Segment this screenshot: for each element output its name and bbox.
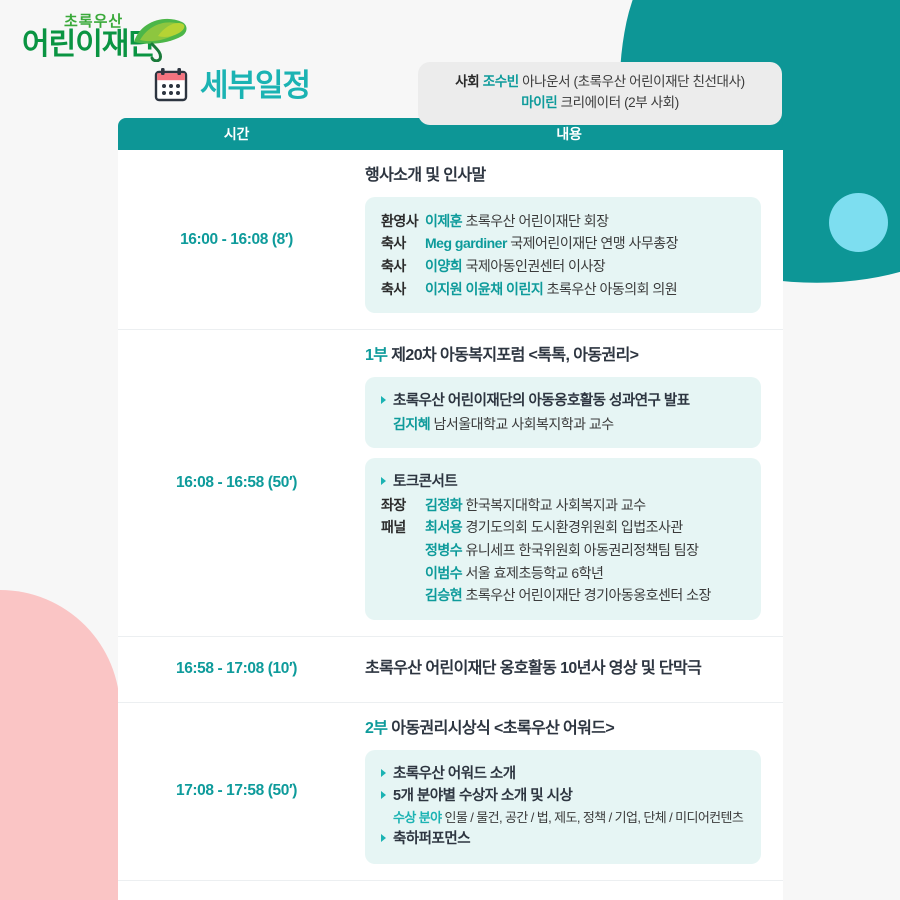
panel-line: 축사Meg gardiner 국제어린이재단 연맹 사무총장 <box>381 232 745 255</box>
person-name: 김정화 <box>425 497 462 513</box>
mc-desc-2: 크리에이터 (2부 사회) <box>561 95 679 110</box>
table-row: 16:08 - 16:58 (50′) 1부 제20차 아동복지포럼 <톡톡, … <box>118 329 783 635</box>
bullet-item: 초록우산 어워드 소개 <box>381 763 745 785</box>
role-label: 축사 <box>381 255 425 278</box>
person-name: 김지혜 <box>393 416 430 432</box>
person-name: 김승현 <box>425 587 462 603</box>
triangle-bullet-icon <box>381 477 386 485</box>
row-time: 17:08 - 17:58 (50′) <box>118 703 355 880</box>
panel-line: 이범수 서울 효제초등학교 6학년 <box>381 562 745 585</box>
row-title-text: 아동권리시상식 <초록우산 어워드> <box>391 720 614 737</box>
person-desc: 국제어린이재단 연맹 사무총장 <box>510 235 678 251</box>
award-categories-text: 인물 / 물건, 공간 / 법, 제도, 정책 / 기업, 단체 / 미디어컨텐… <box>444 810 743 825</box>
mc-name-2: 마이린 <box>521 95 557 110</box>
blue-circle-decoration <box>829 193 888 252</box>
row-content: 1부 제20차 아동복지포럼 <톡톡, 아동권리> 초록우산 어린이재단의 아동… <box>355 330 783 635</box>
award-categories-label: 수상 분야 <box>393 810 441 825</box>
detail-panel: 초록우산 어린이재단의 아동옹호활동 성과연구 발표 김지혜 남서울대학교 사회… <box>365 377 761 448</box>
part-tag: 1부 <box>365 347 387 364</box>
person-name: 정병수 <box>425 542 462 558</box>
panel-subline: 김지혜 남서울대학교 사회복지학과 교수 <box>381 413 745 435</box>
part-tag: 2부 <box>365 720 387 737</box>
bullet-text: 초록우산 어워드 소개 <box>393 763 516 785</box>
table-row: 16:00 - 16:08 (8′) 행사소개 및 인사말 환영사이제훈 초록우… <box>118 150 783 329</box>
page-title-row: 세부일정 <box>152 66 310 104</box>
person-desc: 남서울대학교 사회복지학과 교수 <box>434 416 614 432</box>
childfund-logo: 초록우산 어린이재단 <box>22 8 192 70</box>
person-desc: 초록우산 어린이재단 회장 <box>466 213 609 229</box>
role-label: 축사 <box>381 232 425 255</box>
row-title: 초록우산 어린이재단 옹호활동 10년사 영상 및 단막극 <box>365 659 761 680</box>
mc-label: 사회 <box>455 74 479 89</box>
award-categories: 수상 분야 인물 / 물건, 공간 / 법, 제도, 정책 / 기업, 단체 /… <box>381 808 745 829</box>
row-time: 16:08 - 16:58 (50′) <box>118 330 355 635</box>
row-time: 16:58 - 17:08 (10′) <box>118 637 355 702</box>
person-desc: 초록우산 아동의회 의원 <box>547 281 678 297</box>
mc-info-box: 사회 조수빈 아나운서 (초록우산 어린이재단 친선대사) 마이린 크리에이터 … <box>418 62 782 125</box>
person-desc: 경기도의회 도시환경위원회 입법조사관 <box>466 519 683 535</box>
bullet-item: 축하퍼포먼스 <box>381 828 745 850</box>
column-header-content: 내용 <box>355 124 783 144</box>
row-time: 17:58 - 18:00 (2′) <box>118 881 355 900</box>
person-name: 최서용 <box>425 519 462 535</box>
panel-line: 정병수 유니세프 한국위원회 아동권리정책팀 팀장 <box>381 539 745 562</box>
panel-line: 축사이양희 국제아동인권센터 이사장 <box>381 255 745 278</box>
column-header-time: 시간 <box>118 124 355 144</box>
detail-panel: 초록우산 어워드 소개 5개 분야별 수상자 소개 및 시상 수상 분야 인물 … <box>365 750 761 864</box>
row-content: 마무리 <box>355 881 783 900</box>
triangle-bullet-icon <box>381 769 386 777</box>
row-content: 행사소개 및 인사말 환영사이제훈 초록우산 어린이재단 회장 축사Meg ga… <box>355 150 783 329</box>
bullet-item: 초록우산 어린이재단의 아동옹호활동 성과연구 발표 <box>381 390 745 412</box>
person-desc: 국제아동인권센터 이사장 <box>466 258 606 274</box>
pink-blob-decoration <box>0 590 120 900</box>
mc-name-1: 조수빈 <box>483 74 519 89</box>
table-row: 16:58 - 17:08 (10′) 초록우산 어린이재단 옹호활동 10년사… <box>118 636 783 702</box>
page-title: 세부일정 <box>200 70 310 101</box>
table-row: 17:58 - 18:00 (2′) 마무리 <box>118 880 783 900</box>
calendar-icon <box>152 66 190 104</box>
person-desc: 유니세프 한국위원회 아동권리정책팀 팀장 <box>466 542 699 558</box>
panel-line: 패널최서용 경기도의회 도시환경위원회 입법조사관 <box>381 516 745 539</box>
bullet-text: 초록우산 어린이재단의 아동옹호활동 성과연구 발표 <box>393 390 690 412</box>
person-name: Meg gardiner <box>425 235 507 251</box>
triangle-bullet-icon <box>381 834 386 842</box>
green-umbrella-icon <box>130 16 190 62</box>
role-label: 축사 <box>381 278 425 301</box>
triangle-bullet-icon <box>381 396 386 404</box>
detail-panel: 토크콘서트 좌장김정화 한국복지대학교 사회복지과 교수 패널최서용 경기도의회… <box>365 458 761 620</box>
panel-line: 환영사이제훈 초록우산 어린이재단 회장 <box>381 210 745 233</box>
role-label: 좌장 <box>381 494 425 517</box>
person-desc: 한국복지대학교 사회복지과 교수 <box>466 497 646 513</box>
triangle-bullet-icon <box>381 791 386 799</box>
person-desc: 서울 효제초등학교 6학년 <box>466 565 604 581</box>
row-title: 1부 제20차 아동복지포럼 <톡톡, 아동권리> <box>365 346 761 367</box>
table-body: 16:00 - 16:08 (8′) 행사소개 및 인사말 환영사이제훈 초록우… <box>118 150 783 900</box>
row-title: 행사소개 및 인사말 <box>365 166 761 187</box>
row-time: 16:00 - 16:08 (8′) <box>118 150 355 329</box>
row-content: 2부 아동권리시상식 <초록우산 어워드> 초록우산 어워드 소개 5개 분야별… <box>355 703 783 880</box>
role-label: 환영사 <box>381 210 425 233</box>
mc-line-2: 마이린 크리에이터 (2부 사회) <box>432 93 768 114</box>
person-desc: 초록우산 어린이재단 경기아동옹호센터 소장 <box>466 587 711 603</box>
mc-line-1: 사회 조수빈 아나운서 (초록우산 어린이재단 친선대사) <box>432 72 768 93</box>
table-row: 17:08 - 17:58 (50′) 2부 아동권리시상식 <초록우산 어워드… <box>118 702 783 880</box>
person-name: 이지원 이윤채 이린지 <box>425 281 543 297</box>
person-name: 이범수 <box>425 565 462 581</box>
bullet-text: 5개 분야별 수상자 소개 및 시상 <box>393 785 572 807</box>
row-title: 2부 아동권리시상식 <초록우산 어워드> <box>365 719 761 740</box>
bullet-item: 5개 분야별 수상자 소개 및 시상 <box>381 785 745 807</box>
row-content: 초록우산 어린이재단 옹호활동 10년사 영상 및 단막극 <box>355 637 783 702</box>
schedule-table: 시간 내용 16:00 - 16:08 (8′) 행사소개 및 인사말 환영사이… <box>118 118 783 900</box>
bullet-text: 축하퍼포먼스 <box>393 828 470 850</box>
bullet-item: 토크콘서트 <box>381 471 745 493</box>
role-label: 패널 <box>381 516 425 539</box>
panel-line: 축사이지원 이윤채 이린지 초록우산 아동의회 의원 <box>381 278 745 301</box>
person-name: 이제훈 <box>425 213 462 229</box>
detail-panel: 환영사이제훈 초록우산 어린이재단 회장 축사Meg gardiner 국제어린… <box>365 197 761 314</box>
panel-line: 좌장김정화 한국복지대학교 사회복지과 교수 <box>381 494 745 517</box>
panel-line: 김승현 초록우산 어린이재단 경기아동옹호센터 소장 <box>381 584 745 607</box>
bullet-text: 토크콘서트 <box>393 471 457 493</box>
mc-desc-1: 아나운서 (초록우산 어린이재단 친선대사) <box>522 74 745 89</box>
person-name: 이양희 <box>425 258 462 274</box>
row-title-text: 제20차 아동복지포럼 <톡톡, 아동권리> <box>391 347 638 364</box>
